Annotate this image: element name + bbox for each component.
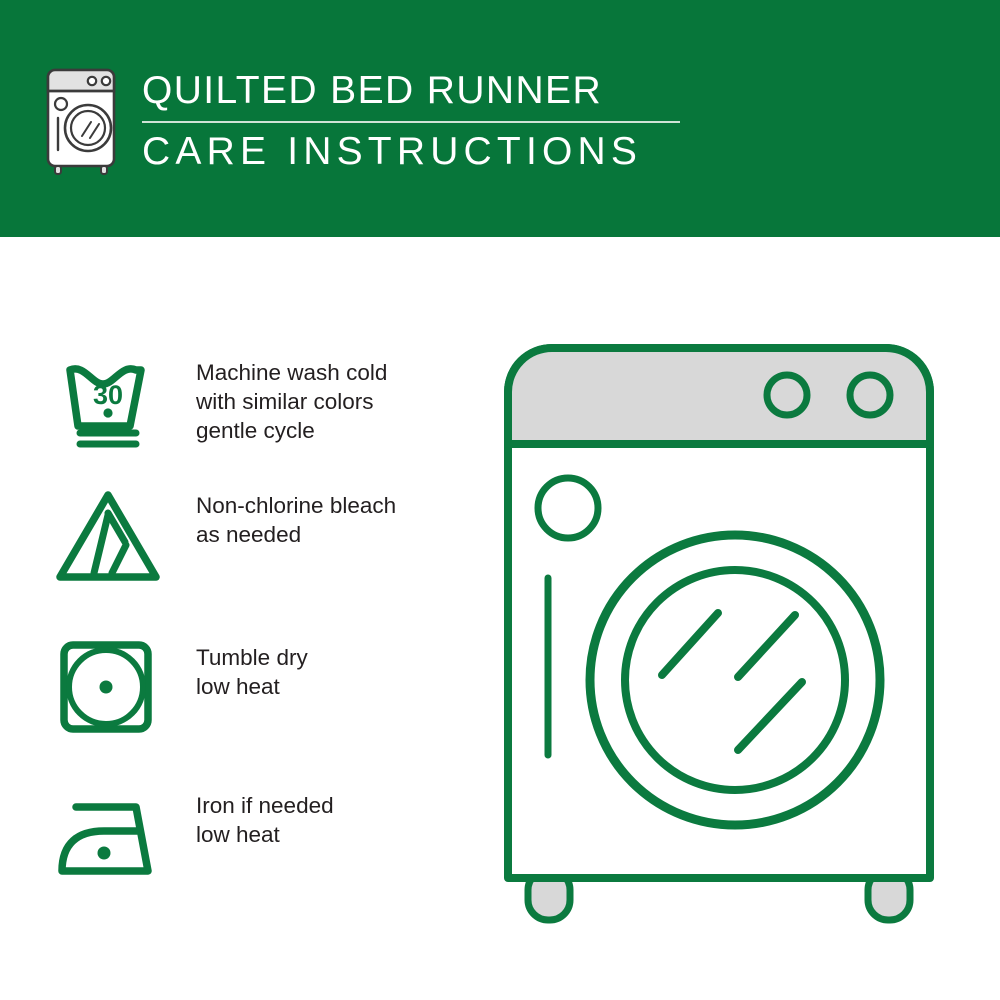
care-text-iron: Iron if needed low heat bbox=[196, 785, 334, 849]
front-load-washing-machine-illustration bbox=[490, 330, 980, 940]
washer-indicator-light bbox=[538, 478, 598, 538]
care-text-line: with similar colors bbox=[196, 387, 387, 416]
tumble-dry-low-heat-icon bbox=[52, 637, 164, 737]
washer-knob-left bbox=[767, 375, 807, 415]
header-text-block: QUILTED BED RUNNER CARE INSTRUCTIONS bbox=[142, 68, 702, 175]
care-text-machine-wash: Machine wash cold with similar colors ge… bbox=[196, 352, 387, 445]
care-text-line: as needed bbox=[196, 520, 396, 549]
washer-drum-inner bbox=[625, 570, 845, 790]
care-text-line: Machine wash cold bbox=[196, 358, 387, 387]
care-text-line: Non-chlorine bleach bbox=[196, 491, 396, 520]
wash-temperature-label: 30 bbox=[93, 380, 123, 410]
iron-low-heat-icon bbox=[52, 785, 164, 885]
care-row-machine-wash: 30 Machine wash cold with similar colors… bbox=[52, 352, 452, 452]
care-text-bleach: Non-chlorine bleach as needed bbox=[196, 485, 396, 549]
care-row-iron: Iron if needed low heat bbox=[52, 785, 452, 885]
care-row-tumble-dry: Tumble dry low heat bbox=[52, 637, 452, 737]
care-text-line: low heat bbox=[196, 672, 308, 701]
care-text-line: low heat bbox=[196, 820, 334, 849]
care-instructions-infographic: QUILTED BED RUNNER CARE INSTRUCTIONS 30 bbox=[0, 0, 1000, 1000]
washer-knob-right bbox=[850, 375, 890, 415]
care-text-line: gentle cycle bbox=[196, 416, 387, 445]
care-instruction-list: 30 Machine wash cold with similar colors… bbox=[0, 237, 470, 1000]
care-text-tumble-dry: Tumble dry low heat bbox=[196, 637, 308, 701]
page-title: QUILTED BED RUNNER bbox=[142, 68, 702, 114]
header-divider bbox=[142, 121, 680, 123]
care-text-line: Tumble dry bbox=[196, 643, 308, 672]
page-subtitle: CARE INSTRUCTIONS bbox=[142, 129, 702, 175]
machine-wash-cold-30-gentle-icon: 30 bbox=[52, 352, 164, 452]
care-row-bleach: Non-chlorine bleach as needed bbox=[52, 485, 452, 585]
header-banner: QUILTED BED RUNNER CARE INSTRUCTIONS bbox=[0, 0, 1000, 237]
washing-machine-icon bbox=[44, 64, 124, 176]
care-text-line: Iron if needed bbox=[196, 791, 334, 820]
non-chlorine-bleach-icon bbox=[52, 485, 164, 585]
